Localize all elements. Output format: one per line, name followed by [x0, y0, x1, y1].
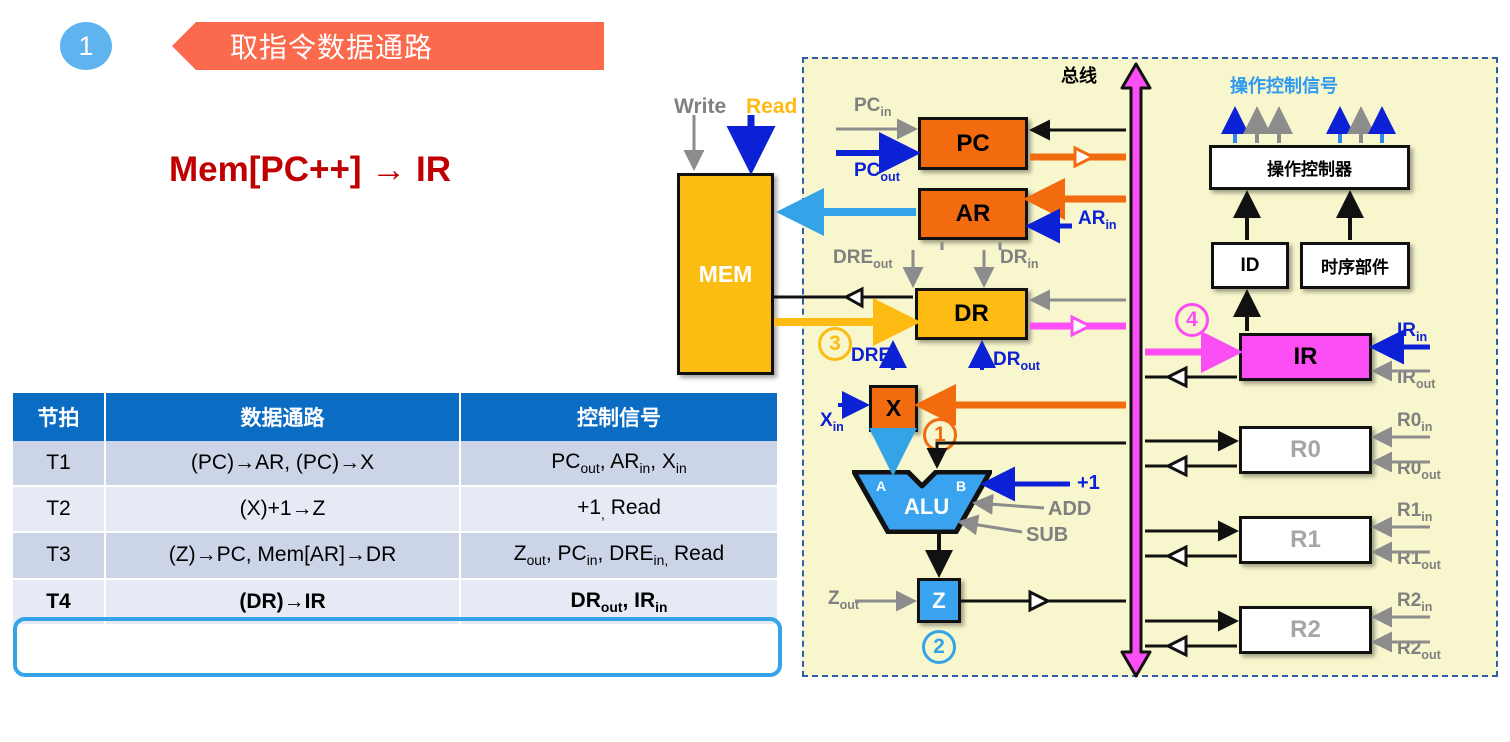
dre-in-label: DREin: [851, 345, 902, 369]
write-label: Write: [674, 95, 726, 119]
r0-out-label: R0out: [1397, 458, 1441, 482]
block-ar: AR: [918, 188, 1028, 240]
block-mem: MEM: [677, 173, 774, 375]
table-row: T2(X)+1→Z+1, Read: [13, 486, 778, 532]
alu-port-b-label: B: [956, 478, 966, 494]
step-marker-3: 3: [818, 327, 852, 361]
cell-beat: T4: [13, 579, 105, 625]
timing-table: 节拍 数据通路 控制信号 T1(PC)→AR, (PC)→XPCout, ARi…: [13, 393, 779, 626]
banner-badge: 1: [60, 22, 112, 70]
formula-text: Mem[PC++] → IR: [60, 150, 560, 190]
bus-label: 总线: [1061, 62, 1097, 88]
highlight-outline: [13, 617, 782, 677]
ir-out-label: IRout: [1397, 367, 1435, 391]
x-in-label: Xin: [820, 410, 844, 434]
step-marker-4: 4: [1175, 303, 1209, 337]
plus-one-label: +1: [1077, 472, 1100, 495]
step-marker-2: 2: [922, 630, 956, 664]
block-pc: PC: [918, 117, 1028, 170]
table-header-row: 节拍 数据通路 控制信号: [13, 393, 778, 441]
cell-signals: PCout, ARin, Xin: [460, 441, 778, 486]
z-out-label: Zout: [828, 588, 859, 612]
sub-label: SUB: [1026, 524, 1068, 547]
block-timing-unit: 时序部件: [1300, 242, 1410, 289]
r2-in-label: R2in: [1397, 590, 1432, 614]
block-z: Z: [917, 578, 961, 623]
read-label: Read: [746, 95, 797, 119]
cell-signals: DRout, IRin: [460, 579, 778, 625]
section-banner: 1 取指令数据通路: [60, 22, 560, 70]
cell-datapath: (X)+1→Z: [105, 486, 460, 532]
add-label: ADD: [1048, 498, 1091, 521]
table-row: T4(DR)→IRDRout, IRin: [13, 579, 778, 625]
block-id: ID: [1211, 242, 1289, 289]
dre-out-label: DREout: [833, 247, 893, 271]
step-marker-1: 1: [923, 418, 957, 452]
table-row: T1(PC)→AR, (PC)→XPCout, ARin, Xin: [13, 441, 778, 486]
block-r0: R0: [1239, 426, 1372, 474]
cell-datapath: (DR)→IR: [105, 579, 460, 625]
dr-in-label: DRin: [1000, 247, 1039, 271]
alu-label: ALU: [904, 494, 949, 520]
cell-beat: T1: [13, 441, 105, 486]
dr-out-label: DRout: [993, 349, 1040, 373]
block-x: X: [869, 385, 918, 432]
cell-beat: T3: [13, 532, 105, 578]
block-op-controller: 操作控制器: [1209, 145, 1410, 190]
cell-datapath: (Z)→PC, Mem[AR]→DR: [105, 532, 460, 578]
col-header-beat: 节拍: [13, 393, 105, 441]
r1-in-label: R1in: [1397, 500, 1432, 524]
table-row: T3(Z)→PC, Mem[AR]→DRZout, PCin, DREin, R…: [13, 532, 778, 578]
cell-signals: +1, Read: [460, 486, 778, 532]
cell-signals: Zout, PCin, DREin, Read: [460, 532, 778, 578]
r1-out-label: R1out: [1397, 548, 1441, 572]
col-header-datapath: 数据通路: [105, 393, 460, 441]
block-r2: R2: [1239, 606, 1372, 654]
cell-datapath: (PC)→AR, (PC)→X: [105, 441, 460, 486]
r0-in-label: R0in: [1397, 410, 1432, 434]
control-signal-label: 操作控制信号: [1230, 72, 1338, 98]
ir-in-label: IRin: [1397, 320, 1427, 344]
block-ir: IR: [1239, 333, 1372, 381]
cell-beat: T2: [13, 486, 105, 532]
alu-port-a-label: A: [876, 478, 886, 494]
pc-out-label: PCout: [854, 160, 900, 184]
pc-in-label: PCin: [854, 95, 892, 119]
ar-in-label: ARin: [1078, 208, 1117, 232]
col-header-signals: 控制信号: [460, 393, 778, 441]
banner-title: 取指令数据通路: [230, 26, 433, 66]
block-r1: R1: [1239, 516, 1372, 564]
r2-out-label: R2out: [1397, 638, 1441, 662]
block-dr: DR: [915, 288, 1028, 340]
banner-chevron: 取指令数据通路: [172, 22, 604, 70]
block-alu: ALU A B: [852, 470, 992, 534]
